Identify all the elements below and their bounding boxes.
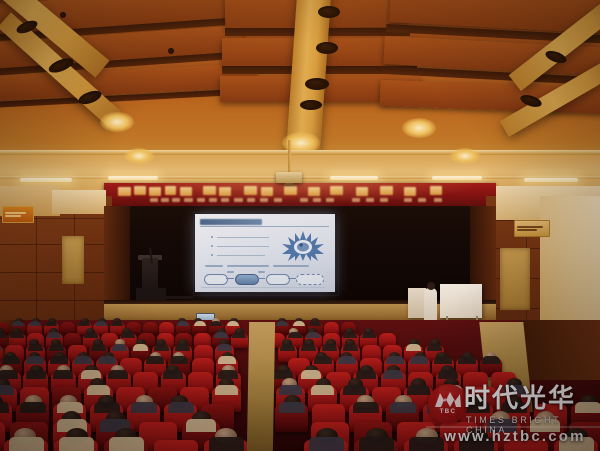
- audience-member-body: [343, 385, 366, 395]
- audience-member-body: [210, 321, 222, 326]
- stage-front-edge: [104, 300, 496, 304]
- soffit-edge: [0, 150, 600, 155]
- audience-member-body: [45, 321, 57, 326]
- smoke-detector-icon: [60, 12, 66, 18]
- audience-member-body: [50, 356, 68, 364]
- audience-member-body: [87, 385, 110, 395]
- audience-member-body: [482, 356, 500, 364]
- stage-cable: [160, 296, 194, 299]
- audience-member-body: [406, 344, 421, 351]
- audience-member-body: [9, 437, 44, 451]
- recessed-downlight-icon: [300, 100, 322, 110]
- audience-member-body: [218, 356, 236, 364]
- flipchart-whiteboard: [440, 284, 482, 318]
- house-wall-right: [520, 320, 600, 380]
- ceiling-light-glow: [402, 118, 436, 138]
- audience-member-body: [279, 385, 302, 395]
- audience-member-body: [353, 402, 379, 413]
- audience-member-body: [410, 356, 428, 364]
- door-left[interactable]: [62, 236, 84, 284]
- audience-member-body: [74, 356, 92, 364]
- strip-light: [108, 176, 158, 180]
- audience-member-body: [154, 344, 169, 351]
- audience-member-body: [322, 344, 337, 351]
- audience-member-body: [84, 332, 98, 338]
- audience-member-body: [232, 332, 246, 338]
- audience-member-body: [301, 370, 321, 379]
- audience-member-body: [288, 332, 302, 338]
- audience-member-body: [279, 402, 305, 413]
- audience-member-body: [214, 332, 228, 338]
- brand-name-cn: 时代光华: [464, 384, 576, 414]
- audience-member-body: [26, 370, 46, 379]
- audience-member-body: [47, 332, 61, 338]
- aisle-center: [247, 322, 275, 451]
- audience-member-body: [359, 437, 394, 451]
- audience-member-body: [177, 321, 189, 326]
- audience-member-body: [280, 344, 295, 351]
- audience-seat: [154, 440, 198, 451]
- audience-member-body: [386, 356, 404, 364]
- audience-member-body: [108, 370, 128, 379]
- door-right[interactable]: [500, 248, 530, 310]
- smoke-detector-icon: [168, 48, 174, 54]
- brand-logo-text: TBC: [428, 409, 468, 415]
- audience-member-body: [309, 321, 321, 326]
- audience-member-body: [209, 437, 244, 451]
- audience-member-body: [98, 356, 116, 364]
- wall-sign-right: ——: [514, 220, 550, 237]
- starburst-graphic-icon: [281, 230, 325, 262]
- brand-mark-icon: [434, 391, 462, 408]
- audience-member-body: [112, 344, 127, 351]
- ceiling-light-glow: [100, 112, 134, 132]
- presenter-head: [427, 282, 435, 290]
- audience-member-body: [2, 356, 20, 364]
- ceiling: [0, 0, 600, 172]
- audience-member-body: [10, 332, 24, 338]
- photograph-auditorium-seminar: ——— —— ——— —— ————— ———— ———: [0, 0, 600, 451]
- audience-member-body: [168, 402, 194, 413]
- audience-member-body: [301, 344, 316, 351]
- audience-member-body: [217, 344, 232, 351]
- audience-member-body: [434, 356, 452, 364]
- audience-member-body: [163, 370, 183, 379]
- audience-member-body: [311, 385, 334, 395]
- audience-member-body: [12, 321, 24, 326]
- slide-title-bar: ▬▬▬▬▬▬: [200, 219, 329, 226]
- audience-member-body: [0, 402, 9, 413]
- strip-light: [20, 178, 72, 182]
- recessed-downlight-icon: [318, 6, 340, 18]
- watermark: TBC 时代光华 TIMES BRIGHT CHINA www.hztbc.co…: [428, 382, 600, 448]
- audience-member-body: [309, 437, 344, 451]
- audience-member-body: [131, 402, 157, 413]
- audience-member-body: [390, 402, 416, 413]
- audience-member-body: [343, 332, 357, 338]
- audience-member-body: [78, 321, 90, 326]
- projector-mount-pole: [288, 140, 291, 176]
- projection-screen: ▬▬▬▬▬▬ —————————————: [195, 214, 335, 292]
- audience-member-body: [29, 321, 41, 326]
- audience-member-body: [91, 344, 106, 351]
- wall-left-return: [52, 190, 106, 214]
- audience-member-body: [95, 321, 107, 326]
- audience-member-body: [314, 356, 332, 364]
- audience-member-body: [306, 332, 320, 338]
- audience-member-body: [362, 332, 376, 338]
- stage-wall-left: [104, 206, 130, 312]
- audience-member-body: [427, 344, 442, 351]
- audience-member-body: [111, 321, 123, 326]
- audience-member-body: [458, 356, 476, 364]
- ceiling-light-glow: [450, 148, 480, 164]
- audience-member-body: [53, 370, 73, 379]
- audience-member-body: [26, 356, 44, 364]
- audience-member-body: [175, 344, 190, 351]
- audience-member-body: [59, 437, 94, 451]
- projector: [276, 172, 302, 183]
- audience-member-body: [194, 321, 206, 326]
- wall-sign-left: ——: [2, 206, 34, 223]
- recessed-downlight-icon: [316, 42, 338, 54]
- audience-member-body: [338, 356, 356, 364]
- strip-light: [524, 178, 578, 182]
- strip-light: [432, 176, 482, 180]
- audience-member-body: [215, 385, 238, 395]
- audience-member-body: [0, 385, 14, 395]
- audience-member-body: [227, 321, 239, 326]
- audience-member-body: [49, 344, 64, 351]
- strip-light: [330, 176, 378, 180]
- brand-url: www.hztbc.com: [428, 428, 600, 445]
- ceiling-light-glow: [124, 148, 154, 164]
- audience-member-body: [276, 321, 288, 326]
- projector-lens-icon: [285, 183, 293, 186]
- audience-member-body: [121, 332, 135, 338]
- recessed-downlight-icon: [305, 78, 329, 90]
- presenter-standing: [424, 288, 437, 322]
- audience-member-body: [407, 385, 430, 395]
- audience-member-body: [146, 356, 164, 364]
- audience-member-body: [186, 419, 216, 432]
- audience-member-body: [20, 402, 46, 413]
- audience-member-body: [383, 370, 403, 379]
- audience-member-body: [343, 344, 358, 351]
- audience-member-body: [133, 344, 148, 351]
- audience-member-body: [0, 332, 6, 338]
- audience-member-body: [109, 437, 144, 451]
- audience-member-body: [293, 321, 305, 326]
- stage-banner: ——— —— ——— —— ————— ———— ———: [104, 183, 496, 206]
- audience-member-body: [170, 356, 188, 364]
- audience-member-body: [28, 344, 43, 351]
